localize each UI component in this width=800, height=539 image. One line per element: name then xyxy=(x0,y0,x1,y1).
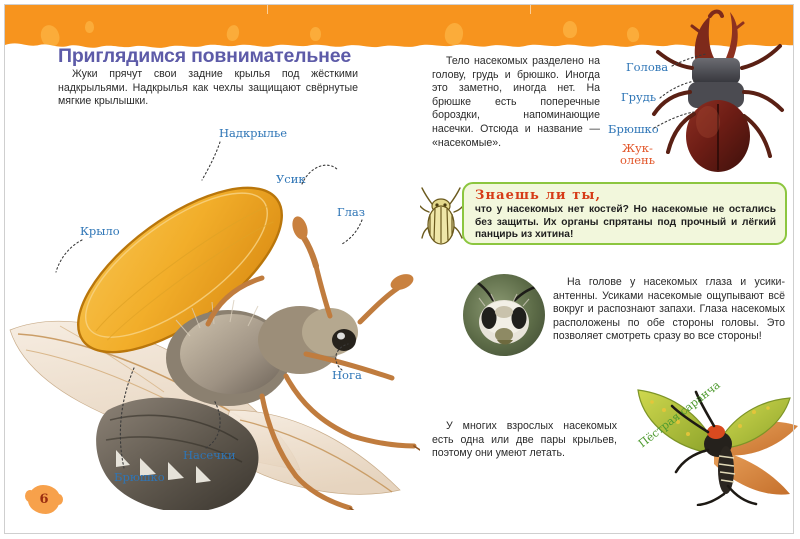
paragraph-wings-text: У многих взрослых насекомых есть одна ил… xyxy=(432,420,617,459)
stag-beetle-photo xyxy=(648,8,798,173)
paragraph-body-parts-text: Тело насекомых разделено на голову, груд… xyxy=(432,55,600,149)
label-notches: Насечки xyxy=(183,448,236,462)
label-leg: Нога xyxy=(332,368,362,382)
paragraph-wings: У многих взрослых насекомых есть одна ил… xyxy=(432,420,617,461)
page-title: Приглядимся повнимательнее xyxy=(58,45,351,68)
paragraph-body-parts: Тело насекомых разделено на голову, груд… xyxy=(432,55,600,150)
label-antenna: Усик xyxy=(276,172,306,186)
label-eye: Глаз xyxy=(337,205,365,219)
paragraph-head-senses: На голове у насекомых глаза и усики-анте… xyxy=(553,276,785,344)
did-you-know-text: что у насекомых нет костей? Но насекомые… xyxy=(475,204,776,242)
paragraph-intro-text: Жуки прячут свои задние крылья под жёстк… xyxy=(58,68,358,107)
page-number-value: 6 xyxy=(28,485,60,514)
book-page: Приглядимся повнимательнее Жуки прячут с… xyxy=(0,0,800,539)
label-head-right: Голова xyxy=(626,60,668,74)
paragraph-intro: Жуки прячут свои задние крылья под жёстк… xyxy=(58,68,358,109)
label-abdomen-left: Брюшко xyxy=(114,470,165,484)
label-wing: Крыло xyxy=(80,224,120,238)
page-number: 6 xyxy=(28,485,60,514)
label-thorax-right: Грудь xyxy=(621,90,656,104)
banner-bug-icon xyxy=(85,21,94,33)
label-elytron: Надкрылье xyxy=(219,126,287,140)
colorado-potato-beetle-illustration xyxy=(420,186,464,246)
label-abdomen-right: Брюшко xyxy=(608,122,659,136)
did-you-know-box: Знаешь ли ты, что у насекомых нет костей… xyxy=(462,182,787,245)
did-you-know-title: Знаешь ли ты, xyxy=(475,189,776,203)
bee-head-photo xyxy=(463,274,545,356)
label-stag-beetle: Жук- олень xyxy=(620,142,655,166)
paragraph-head-senses-text: На голове у насекомых глаза и усики-анте… xyxy=(553,276,785,342)
label-stag-beetle-line2: олень xyxy=(620,154,655,166)
